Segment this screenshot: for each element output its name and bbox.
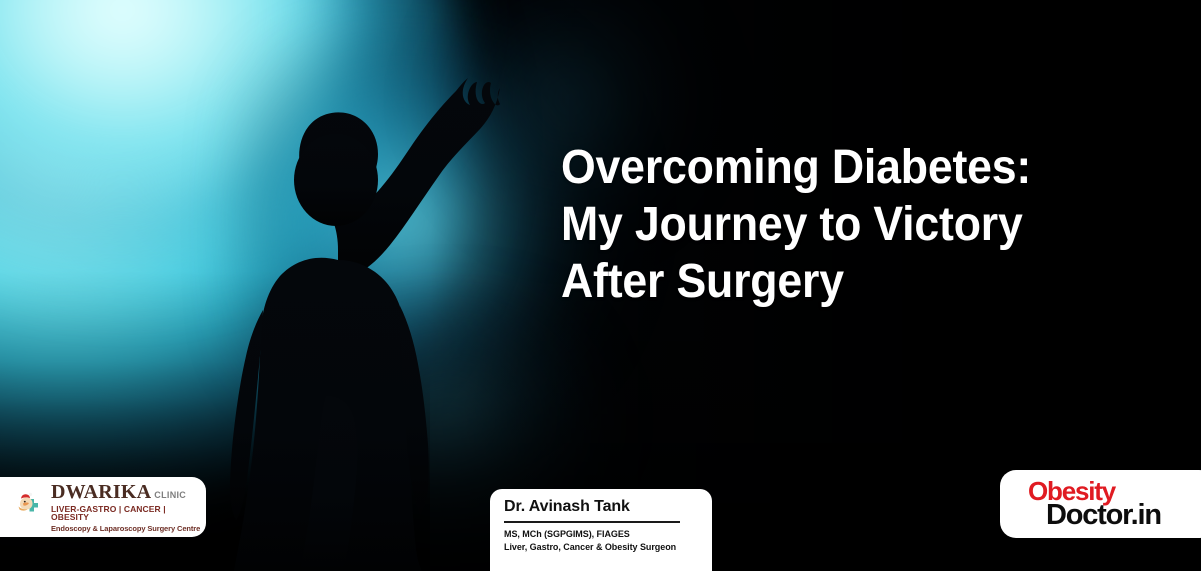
article-banner: Overcoming Diabetes: My Journey to Victo…	[0, 0, 1201, 571]
doctor-divider	[504, 521, 680, 523]
page-title: Overcoming Diabetes: My Journey to Victo…	[561, 139, 1119, 310]
clinic-name: DWARIKA	[51, 482, 151, 502]
doctor-qualifications: MS, MCh (SGPGIMS), FIAGES	[504, 528, 698, 541]
clinic-label: CLINIC	[154, 491, 186, 500]
site-logo-card[interactable]: Obesity Doctor.in	[1000, 470, 1201, 538]
headline-line-2: My Journey to Victory	[561, 196, 1119, 253]
doctor-name: Dr. Avinash Tank	[504, 498, 698, 516]
site-logo-word-bottom: Doctor.in	[1046, 503, 1161, 529]
clinic-logo-text: DWARIKA CLINIC LIVER-GASTRO | CANCER | O…	[51, 482, 206, 533]
clinic-tagline: Endoscopy & Laparoscopy Surgery Centre	[51, 525, 206, 533]
clinic-specialties: LIVER-GASTRO | CANCER | OBESITY	[51, 505, 206, 522]
doctor-specialization: Liver, Gastro, Cancer & Obesity Surgeon	[504, 541, 698, 554]
doctor-credentials-card: Dr. Avinash Tank MS, MCh (SGPGIMS), FIAG…	[490, 489, 712, 571]
headline-line-3: After Surgery	[561, 253, 1119, 310]
dwarika-clinic-mark-icon	[14, 490, 48, 524]
clinic-logo-card: DWARIKA CLINIC LIVER-GASTRO | CANCER | O…	[0, 477, 206, 537]
headline-line-1: Overcoming Diabetes:	[561, 139, 1119, 196]
site-logo: Obesity Doctor.in	[1028, 480, 1161, 528]
clinic-logo: DWARIKA CLINIC LIVER-GASTRO | CANCER | O…	[14, 482, 206, 533]
